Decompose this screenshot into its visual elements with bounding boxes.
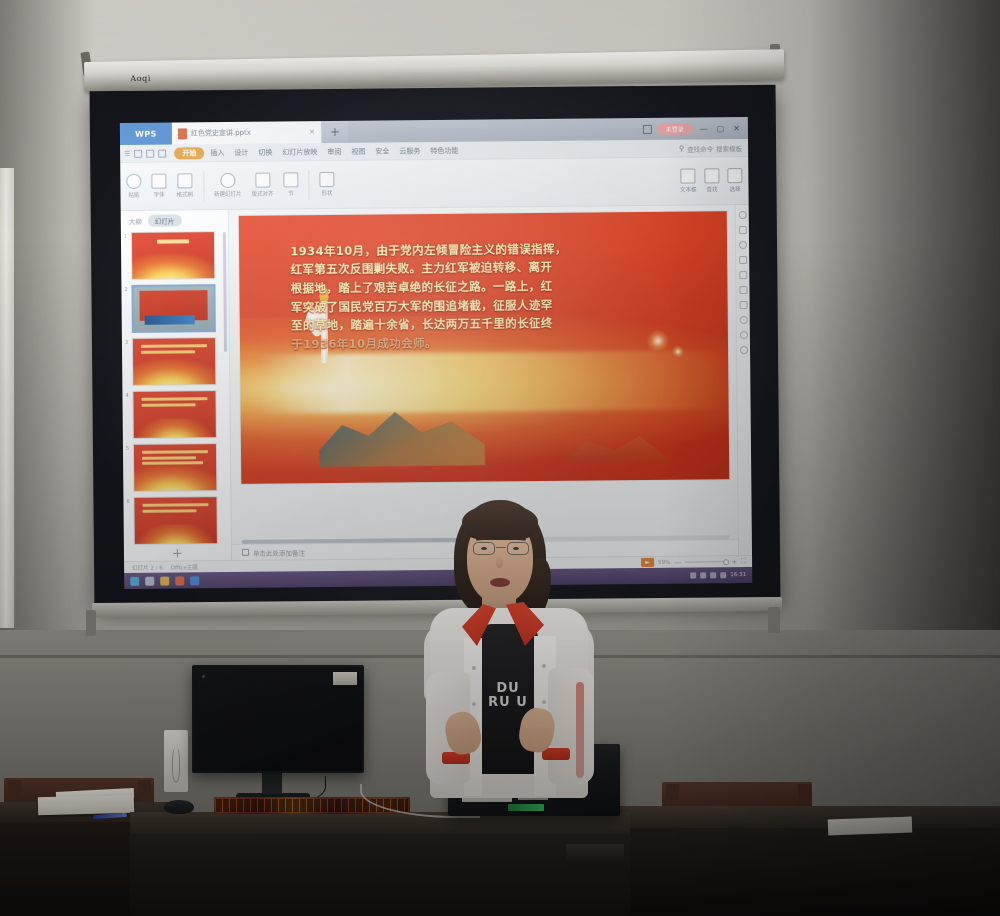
tshirt-text: DU RU U xyxy=(484,682,532,709)
close-icon[interactable]: ✕ xyxy=(731,124,742,133)
thumbnail-number: 3 xyxy=(125,340,128,346)
paper-sheet xyxy=(828,817,913,836)
share-icon[interactable] xyxy=(739,316,747,324)
mouse xyxy=(164,800,194,814)
thumbnail-item[interactable]: 4 xyxy=(132,390,223,439)
ribbon-label-new-slide: 新建幻灯片 xyxy=(214,190,242,198)
paste-icon xyxy=(126,174,141,189)
ribbon-button-font[interactable]: 字体 xyxy=(151,174,166,199)
thumbnail-item[interactable]: 3 xyxy=(132,337,223,386)
slideshow-play-icon[interactable]: ► xyxy=(641,558,654,567)
notes-icon xyxy=(242,549,249,556)
status-right-group: ► 59% — + ⛶ xyxy=(641,557,746,567)
nose xyxy=(496,556,503,568)
ribbon-tab-security[interactable]: 安全 xyxy=(371,145,393,157)
thumb-glow xyxy=(138,524,214,545)
monitor-led xyxy=(202,675,205,678)
newslide-icon xyxy=(220,173,235,188)
ribbon-button-select[interactable]: 选择 xyxy=(727,168,742,193)
ribbon-label-layout: 版式对齐 xyxy=(252,190,274,198)
ribbon-button-new-slide[interactable]: 新建幻灯片 xyxy=(214,173,242,198)
document-tab[interactable]: 红色党史宣讲.pptx ✕ xyxy=(172,121,322,144)
thumb-glow xyxy=(137,418,213,439)
zoom-level: 59% xyxy=(658,559,670,565)
wps-icon[interactable] xyxy=(190,576,199,585)
ribbon-label-find: 查找 xyxy=(706,185,717,193)
system-tray: 16:31 xyxy=(690,572,746,579)
thumb-text-line xyxy=(142,456,196,460)
ribbon-button-section[interactable]: 节 xyxy=(283,172,298,197)
ribbon-label-shapes: 形状 xyxy=(322,189,333,197)
thumbnail-image-4[interactable] xyxy=(132,390,216,439)
ribbon-tab-slideshow[interactable]: 幻灯片放映 xyxy=(278,146,321,158)
save-icon[interactable] xyxy=(134,149,142,157)
thumb-bar xyxy=(145,315,195,324)
classroom-scene: Aoqi WPS 红色党史宣讲.pptx ✕ + 未登录 — ▢ xyxy=(0,0,1000,916)
desk-right-front xyxy=(600,828,1000,916)
font-icon xyxy=(151,174,166,189)
zoom-slider-knob[interactable] xyxy=(723,559,729,565)
close-tab-icon[interactable]: ✕ xyxy=(309,128,315,136)
glasses-lens-left xyxy=(473,542,495,555)
ribbon-tab-features[interactable]: 特色功能 xyxy=(426,144,462,156)
cloud-doc-icon[interactable] xyxy=(643,124,652,133)
titlebar-drag-area xyxy=(348,118,643,143)
desk-right-top xyxy=(600,806,1000,828)
ribbon-label-select: 选择 xyxy=(729,185,740,193)
fit-to-window-icon[interactable]: ⛶ xyxy=(741,557,746,566)
thumbnail-image-5[interactable] xyxy=(133,443,217,492)
redo-icon[interactable] xyxy=(158,149,166,157)
select-icon xyxy=(727,168,742,183)
screen-brand-label: Aoqi xyxy=(130,74,151,83)
thumbnail-item[interactable]: 2 xyxy=(131,284,222,333)
search-hint: 搜索模板 xyxy=(716,143,742,153)
screen-roller-stub-left xyxy=(86,610,96,636)
thumbnail-number: 1 xyxy=(124,234,127,240)
ribbon-button-textart[interactable]: 文本框 xyxy=(680,168,697,193)
ribbon-label-font: 字体 xyxy=(153,191,164,199)
document-tab-label: 红色党史宣讲.pptx xyxy=(191,128,251,139)
ribbon-search-box[interactable]: ⚲ 查找命令 搜索模板 xyxy=(679,142,748,153)
desk-main-front xyxy=(130,834,630,916)
volume-icon[interactable] xyxy=(700,572,706,578)
explorer-icon[interactable] xyxy=(160,576,169,585)
ribbon-tab-start[interactable]: 开始 xyxy=(174,147,204,159)
cloud-icon[interactable] xyxy=(738,241,746,249)
browser-icon[interactable] xyxy=(175,576,184,585)
theme-label: Office主题 xyxy=(171,563,198,571)
zoom-in-button[interactable]: + xyxy=(731,558,737,566)
zoom-slider[interactable] xyxy=(685,561,727,562)
ribbon-button-layout[interactable]: 版式对齐 xyxy=(251,173,273,198)
shapes-icon xyxy=(319,172,334,187)
sleeve-right xyxy=(548,668,594,784)
ribbon-button-shapes[interactable]: 形状 xyxy=(319,172,334,197)
current-slide[interactable]: 1934年10月，由于党内左倾冒险主义的错误指挥， 红军第五次反围剿失败。主力红… xyxy=(239,211,730,484)
ribbon-label-textart: 文本框 xyxy=(680,185,697,193)
thumbnail-number: 2 xyxy=(124,287,127,293)
taskbar-clock[interactable]: 16:31 xyxy=(730,572,746,578)
thumbnail-number: 5 xyxy=(126,446,129,452)
jacket-button xyxy=(472,666,476,670)
ribbon-label-brush: 格式刷 xyxy=(176,190,193,198)
thumbnail-image-1[interactable] xyxy=(131,231,215,280)
folder-icon[interactable] xyxy=(739,271,747,279)
whiteboard-edge xyxy=(0,168,16,628)
sleeve-trim-right xyxy=(576,682,584,778)
thumbnail-list: 1 2 xyxy=(121,229,231,545)
thumbnail-image-6[interactable] xyxy=(133,496,217,545)
zoom-out-button[interactable]: — xyxy=(674,558,681,566)
search-placeholder: 查找命令 xyxy=(687,143,713,153)
ribbon-tab-insert[interactable]: 插入 xyxy=(206,146,228,158)
cuff-right xyxy=(542,748,570,760)
ribbon-tab-review[interactable]: 审阅 xyxy=(323,145,345,157)
thumb-glow xyxy=(133,465,217,492)
star-icon[interactable] xyxy=(739,286,747,294)
ribbon-label-section: 节 xyxy=(288,189,294,197)
panel-tabs: 大纲 幻灯片 xyxy=(121,210,228,230)
ribbon-button-paste[interactable]: 粘贴 xyxy=(126,174,141,199)
battery-icon[interactable] xyxy=(710,572,716,578)
history-icon[interactable] xyxy=(739,331,747,339)
wps-logo[interactable]: WPS xyxy=(120,123,172,145)
jacket-button xyxy=(542,664,546,668)
mouth xyxy=(490,578,510,587)
ribbon-tab-cloud[interactable]: 云服务 xyxy=(395,145,424,157)
ribbon-tab-design[interactable]: 设计 xyxy=(230,146,252,158)
slide-thumbnail-panel: 大纲 幻灯片 1 2 xyxy=(121,210,232,561)
help-icon[interactable] xyxy=(740,346,748,354)
desk-small-box xyxy=(566,844,624,866)
grid-icon[interactable] xyxy=(739,301,747,309)
thumb-text-line xyxy=(143,509,197,513)
copy-icon[interactable] xyxy=(738,226,746,234)
speaker-cord xyxy=(172,748,180,782)
jacket-button xyxy=(472,702,476,706)
presenter: DU RU U xyxy=(424,496,594,796)
ribbon-button-find[interactable]: 查找 xyxy=(704,168,719,193)
open-notebook xyxy=(38,795,134,816)
slide-text-line-6: 于1936年10月成功会师。 xyxy=(291,331,699,354)
textart-icon xyxy=(681,168,696,183)
ribbon-divider-2 xyxy=(308,170,309,200)
slide-indicator: 幻灯片 2 / 6 xyxy=(132,563,163,571)
section-icon xyxy=(283,172,298,187)
glasses xyxy=(472,542,530,555)
thumb-title-block xyxy=(157,240,190,244)
panel-tab-slides[interactable]: 幻灯片 xyxy=(148,214,182,226)
wall-shadow-right xyxy=(810,0,1000,700)
new-tab-button[interactable]: + xyxy=(322,121,348,143)
thumb-text-line xyxy=(142,403,196,407)
thumbnail-number: 4 xyxy=(125,393,128,399)
panel-tab-outline[interactable]: 大纲 xyxy=(129,216,142,226)
brush-icon xyxy=(177,173,192,188)
menu-icon[interactable]: ☰ xyxy=(124,149,130,157)
thumb-glow xyxy=(132,359,216,386)
slide-body-text[interactable]: 1934年10月，由于党内左倾冒险主义的错误指挥， 红军第五次反围剿失败。主力红… xyxy=(290,238,699,354)
monitor-stand-neck xyxy=(262,773,282,795)
thumbnail-number: 6 xyxy=(126,499,129,505)
quick-access-toolbar: ☰ xyxy=(124,149,172,157)
account-status-chip[interactable]: 未登录 xyxy=(657,123,693,134)
network-icon[interactable] xyxy=(690,573,696,579)
monitor-sticker xyxy=(333,672,357,685)
monitor-rear xyxy=(192,665,364,773)
thumbnail-item[interactable]: 6 xyxy=(133,496,224,545)
ribbon-body: 粘贴 字体 格式刷 新建幻灯片 版式对齐 xyxy=(120,157,748,211)
glasses-bridge xyxy=(496,547,506,548)
ribbon-label-paste: 粘贴 xyxy=(128,191,139,199)
screen-roller-stub-right xyxy=(768,607,780,633)
notes-placeholder: 单击此处添加备注 xyxy=(253,547,305,557)
thumbnail-image-2[interactable] xyxy=(131,284,215,333)
ribbon-right-group: 文本框 查找 选择 xyxy=(680,168,743,194)
start-icon[interactable] xyxy=(130,576,139,585)
tower-connector-green xyxy=(508,804,544,811)
jacket-button xyxy=(542,700,546,704)
glasses-lens-right xyxy=(507,542,529,555)
maximize-icon[interactable]: ▢ xyxy=(715,124,727,133)
ribbon-button-brush[interactable]: 格式刷 xyxy=(176,173,193,198)
thumb-text-line xyxy=(141,350,195,354)
thumbnail-item[interactable]: 5 xyxy=(133,443,224,492)
layout-icon xyxy=(255,173,270,188)
search-icon[interactable] xyxy=(145,576,154,585)
search-icon: ⚲ xyxy=(679,144,684,152)
ribbon-tab-transition[interactable]: 切换 xyxy=(254,146,276,158)
thumb-glow xyxy=(131,253,215,280)
find-icon xyxy=(704,168,719,183)
undo-icon[interactable] xyxy=(146,149,154,157)
ribbon-tab-view[interactable]: 视图 xyxy=(347,145,369,157)
thumbnail-image-3[interactable] xyxy=(132,337,216,386)
thumbnail-item[interactable]: 1 xyxy=(131,231,222,280)
moon-icon[interactable] xyxy=(720,572,726,578)
titlebar-right-group: 未登录 — ▢ ✕ xyxy=(643,117,748,140)
minimize-icon[interactable]: — xyxy=(698,124,710,133)
hair-front xyxy=(462,504,538,540)
chart-icon[interactable] xyxy=(739,256,747,264)
ribbon-divider xyxy=(203,171,204,201)
pptx-file-icon xyxy=(178,128,187,139)
settings-icon[interactable] xyxy=(738,211,746,219)
